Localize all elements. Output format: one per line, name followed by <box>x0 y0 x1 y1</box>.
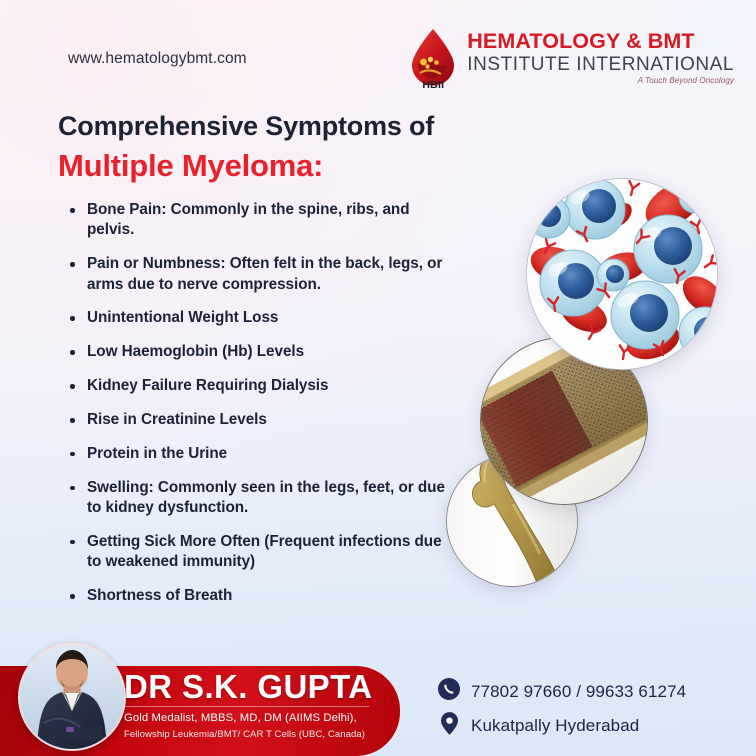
phone-number: 77802 97660 / 99633 61274 <box>471 682 686 702</box>
poster-canvas: www.hematologybmt.com HBII <box>0 0 756 756</box>
logo-wordmark: HEMATOLOGY & BMT INSTITUTE INTERNATIONAL… <box>467 31 734 88</box>
contact-location-row[interactable]: Kukatpally Hyderabad <box>438 712 639 740</box>
list-item: Getting Sick More Often (Frequent infect… <box>68 532 446 573</box>
list-item: Unintentional Weight Loss <box>68 308 446 328</box>
plasma-cells-icon <box>526 178 718 370</box>
logo-line-1: HEMATOLOGY & BMT <box>467 31 734 53</box>
location-text: Kukatpally Hyderabad <box>471 716 639 736</box>
list-item: Pain or Numbness: Often felt in the back… <box>68 254 446 295</box>
blood-drop-icon: HBII <box>408 28 458 90</box>
list-item: Swelling: Commonly seen in the legs, fee… <box>68 478 446 519</box>
logo-line-2: INSTITUTE INTERNATIONAL <box>467 55 734 74</box>
doctor-name: DR S.K. GUPTA <box>124 668 372 706</box>
location-pin-icon <box>438 712 460 740</box>
list-item: Shortness of Breath <box>68 586 446 606</box>
list-item: Rise in Creatinine Levels <box>68 410 446 430</box>
list-item: Low Haemoglobin (Hb) Levels <box>68 342 446 362</box>
contact-phone-row[interactable]: 77802 97660 / 99633 61274 <box>438 678 686 705</box>
doctor-credentials-line-2: Fellowship Leukemia/BMT/ CAR T Cells (UB… <box>124 729 365 740</box>
list-item: Protein in the Urine <box>68 444 446 464</box>
symptom-list: Bone Pain: Commonly in the spine, ribs, … <box>68 200 446 620</box>
list-item: Bone Pain: Commonly in the spine, ribs, … <box>68 200 446 241</box>
website-url[interactable]: www.hematologybmt.com <box>68 50 247 68</box>
phone-icon <box>438 678 460 705</box>
page-title-line-1: Comprehensive Symptoms of <box>58 111 434 142</box>
list-item: Kidney Failure Requiring Dialysis <box>68 376 446 396</box>
logo-badge-text: HBII <box>408 79 458 91</box>
medical-illustration <box>430 165 756 595</box>
logo-tagline: A Touch Beyond Oncology <box>467 77 734 85</box>
divider <box>124 706 369 707</box>
avatar <box>18 643 126 751</box>
brand-logo: HBII HEMATOLOGY & BMT INSTITUTE INTERNAT… <box>408 28 734 90</box>
doctor-credentials-line-1: Gold Medalist, MBBS, MD, DM (AIIMS Delhi… <box>124 712 357 724</box>
page-title-line-2: Multiple Myeloma: <box>58 148 323 184</box>
